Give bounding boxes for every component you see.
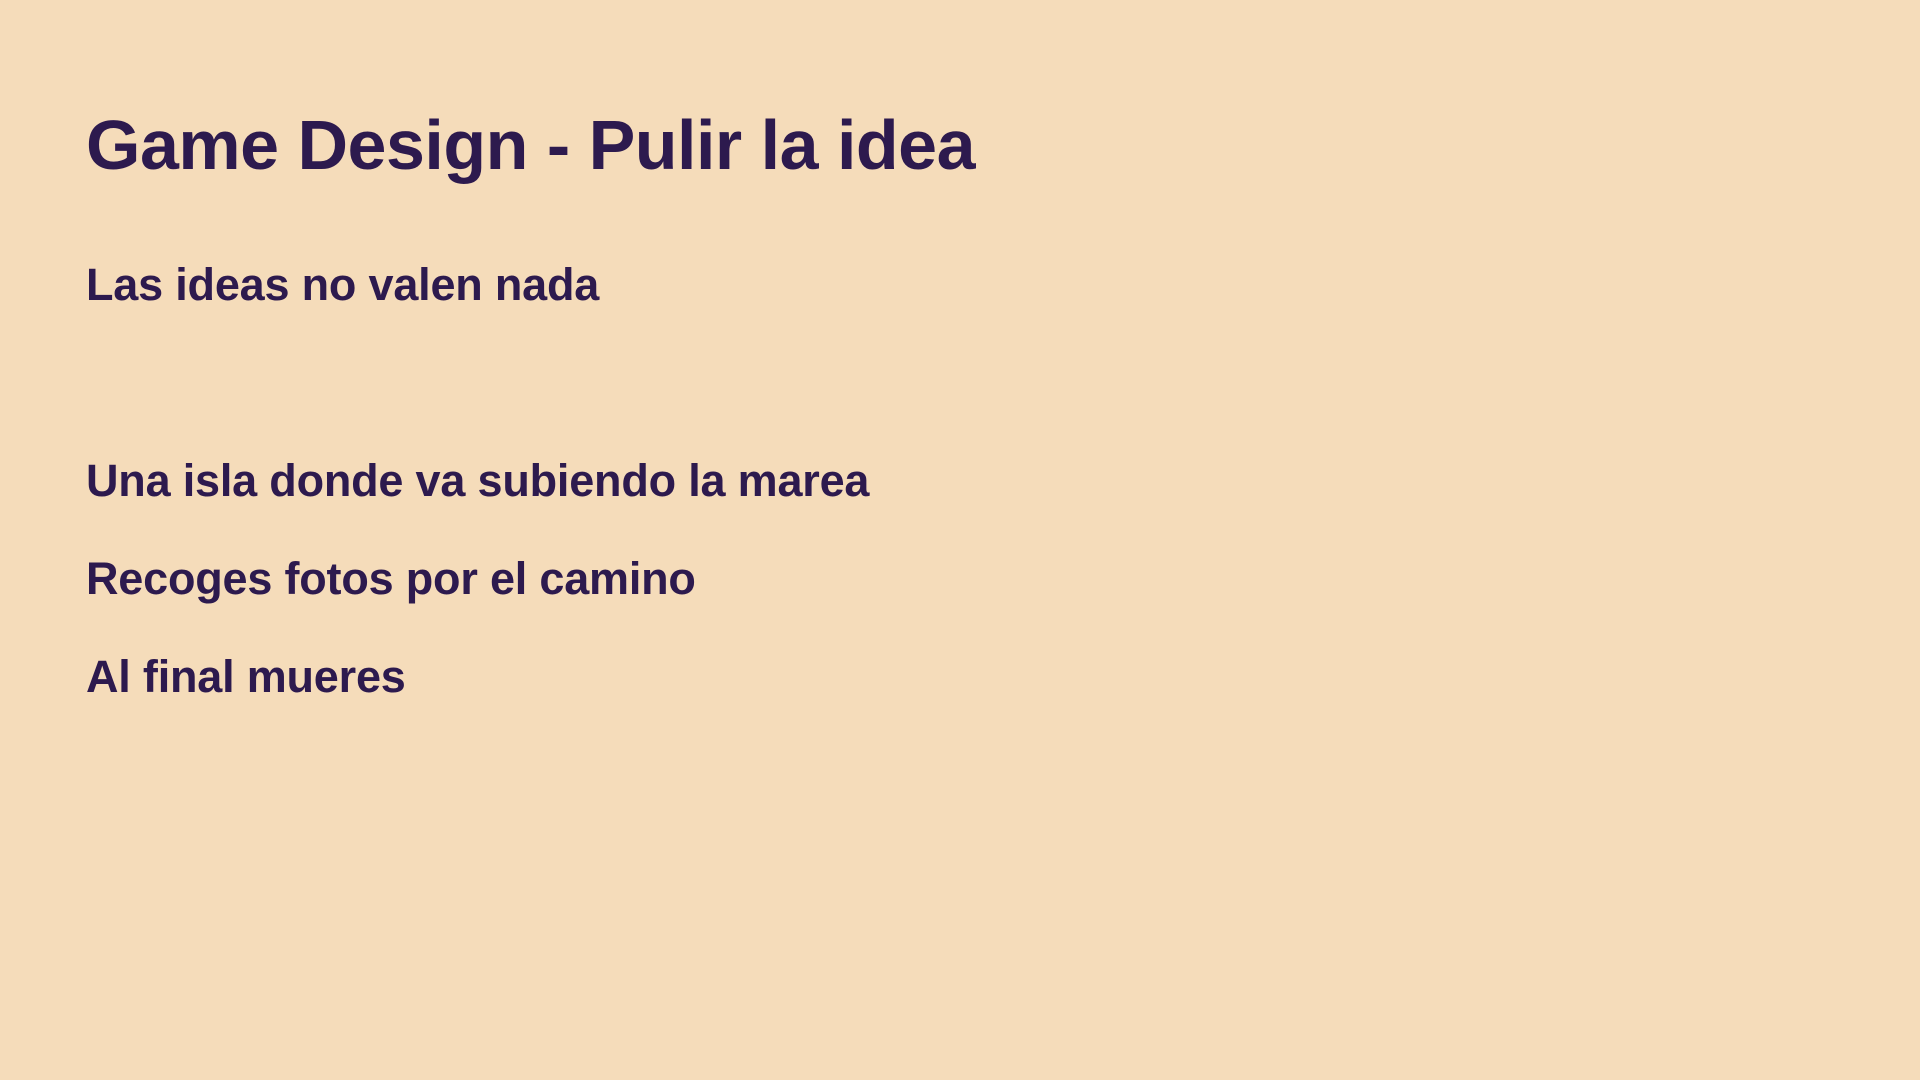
slide-canvas: Game Design - Pulir la idea Las ideas no… [0, 0, 1920, 1080]
lead-statement-block: Las ideas no valen nada [86, 262, 1786, 307]
idea-point-item: Al final mueres [86, 654, 1786, 699]
idea-points-list: Una isla donde va subiendo la marea Reco… [86, 458, 1786, 699]
idea-point-item: Recoges fotos por el camino [86, 556, 1786, 601]
lead-statement-line: Las ideas no valen nada [86, 262, 1786, 307]
idea-point-item: Una isla donde va subiendo la marea [86, 458, 1786, 503]
slide-title: Game Design - Pulir la idea [86, 110, 975, 180]
